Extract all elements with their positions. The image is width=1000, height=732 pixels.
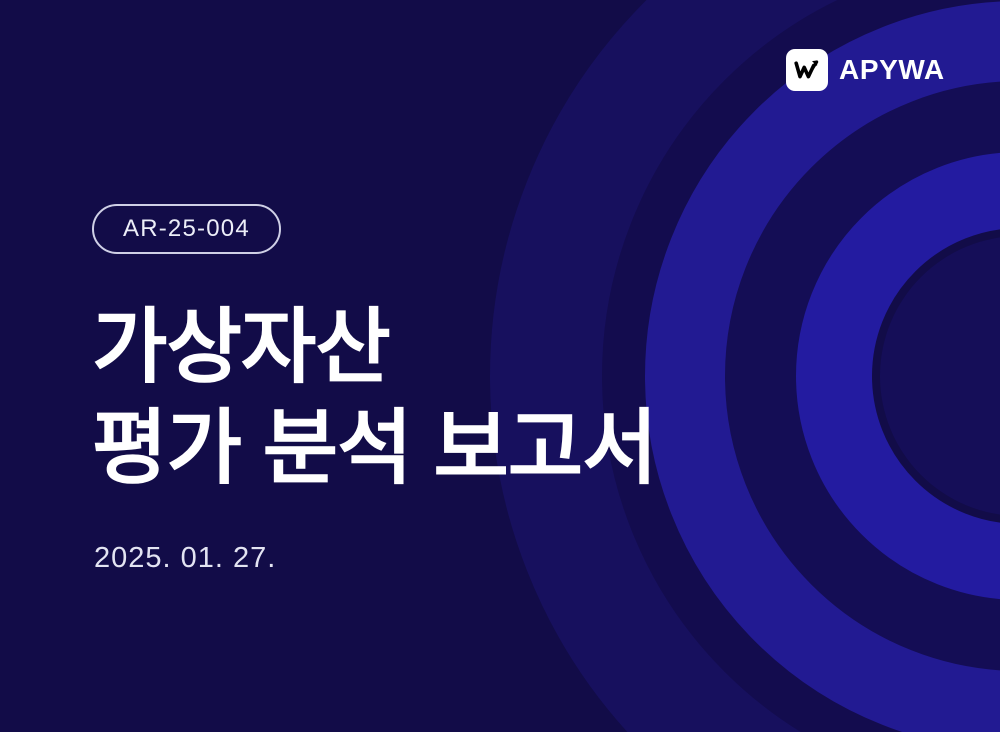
- report-date: 2025. 01. 27.: [94, 544, 657, 573]
- report-code-badge: AR-25-004: [92, 204, 281, 254]
- cover-content: AR-25-004 가상자산 평가 분석 보고서 2025. 01. 27.: [92, 204, 657, 573]
- page-title: 가상자산 평가 분석 보고서: [92, 300, 657, 496]
- brand-wordmark: APYWA: [839, 56, 945, 84]
- w-arrow-logo-icon: [786, 49, 828, 91]
- page-title-line-1: 가상자산: [92, 300, 657, 395]
- brand-logo-lockup: APYWA: [786, 49, 945, 91]
- page-title-line-2: 평가 분석 보고서: [92, 401, 657, 496]
- report-cover-slide: APYWA AR-25-004 가상자산 평가 분석 보고서 2025. 01.…: [0, 0, 1000, 732]
